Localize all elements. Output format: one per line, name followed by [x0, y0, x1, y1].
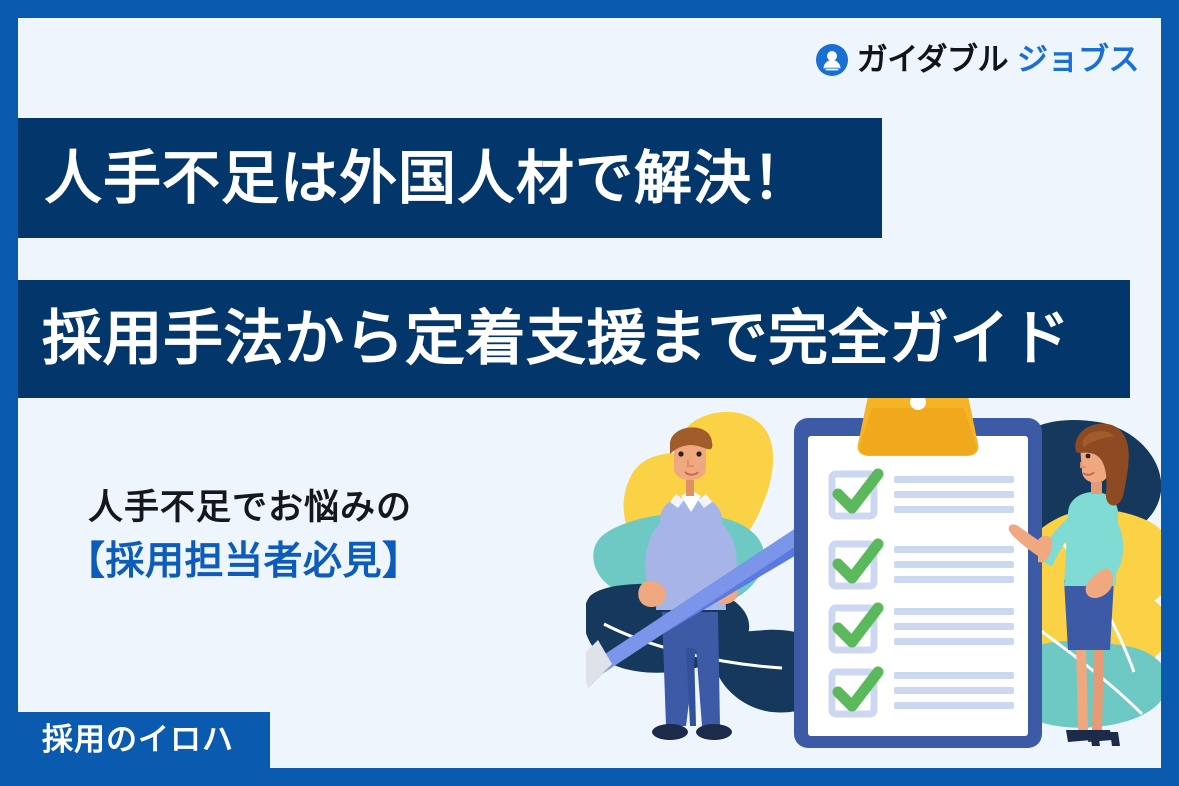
banner-root: ガイダブル ジョブス [0, 0, 1179, 786]
logo-text-dark: ガイダブル [857, 45, 1008, 76]
sub-copy-line2: 【採用担当者必見】 [66, 534, 422, 589]
banner-inner-panel: ガイダブル ジョブス [18, 18, 1161, 768]
headline-bar-primary: 人手不足は外国人材で解決！ [18, 118, 882, 238]
hero-illustration [586, 396, 1161, 768]
category-badge: 採用のイロハ [18, 712, 270, 768]
logo-text-blue: ジョブス [1017, 45, 1139, 76]
headline-line2: 採用手法から定着支援まで完全ガイド [42, 309, 1071, 369]
category-badge-label: 採用のイロハ [42, 725, 234, 756]
person-circle-icon [816, 44, 848, 76]
brand-logo[interactable]: ガイダブル ジョブス [816, 40, 1139, 80]
clipboard [794, 396, 1042, 748]
headline-bar-secondary: 採用手法から定着支援まで完全ガイド [18, 280, 1130, 398]
sub-copy: 人手不足でお悩みの 【採用担当者必見】 [66, 484, 422, 589]
sub-copy-line1: 人手不足でお悩みの [66, 484, 422, 534]
headline-line1: 人手不足は外国人材で解決！ [44, 149, 811, 207]
